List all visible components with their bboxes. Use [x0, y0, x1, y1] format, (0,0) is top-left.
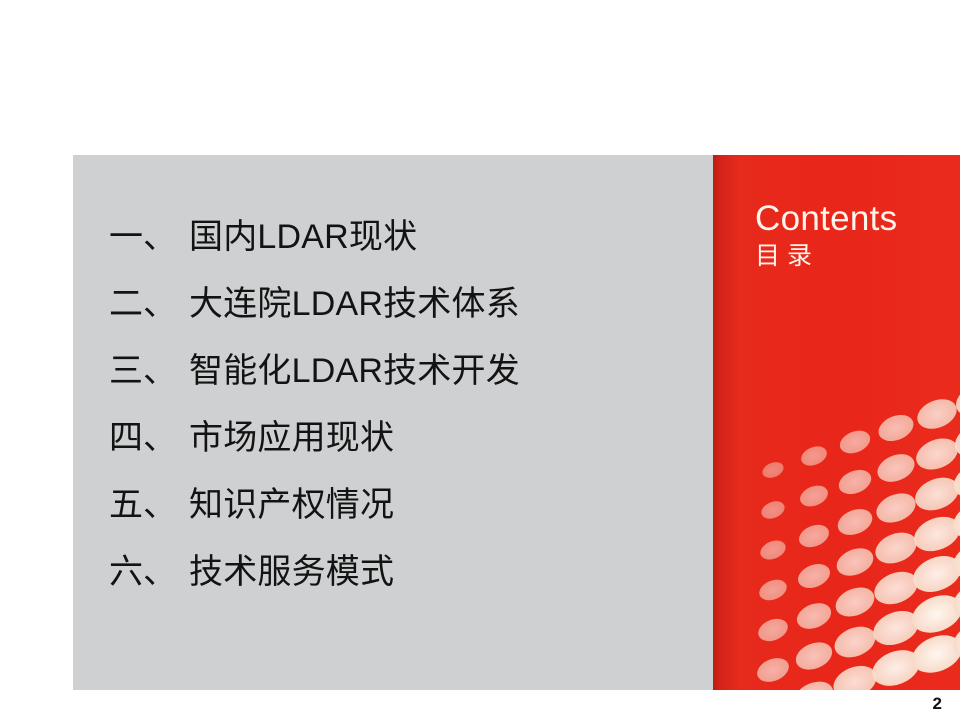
- agenda-item-1[interactable]: 一、 国内LDAR现状: [109, 204, 709, 271]
- contents-heading: Contents 目 录: [755, 199, 955, 271]
- contents-panel: Contents 目 录: [713, 155, 960, 690]
- agenda-item-1-label: 国内LDAR现状: [189, 204, 417, 271]
- agenda-item-2[interactable]: 二、 大连院LDAR技术体系: [109, 271, 709, 338]
- agenda-item-6[interactable]: 六、 技术服务模式: [109, 539, 709, 606]
- slide-canvas: 一、 国内LDAR现状 二、 大连院LDAR技术体系 三、 智能化LDAR技术开…: [0, 0, 960, 720]
- agenda-item-3[interactable]: 三、 智能化LDAR技术开发: [109, 338, 709, 405]
- agenda-panel: 一、 国内LDAR现状 二、 大连院LDAR技术体系 三、 智能化LDAR技术开…: [73, 155, 714, 690]
- agenda-item-5-number: 五、: [109, 472, 189, 539]
- page-number: 2: [933, 694, 942, 714]
- agenda-list: 一、 国内LDAR现状 二、 大连院LDAR技术体系 三、 智能化LDAR技术开…: [109, 204, 709, 606]
- agenda-item-4-label: 市场应用现状: [189, 405, 394, 472]
- agenda-item-2-label: 大连院LDAR技术体系: [189, 271, 520, 338]
- agenda-item-6-number: 六、: [109, 539, 189, 606]
- contents-title-en: Contents: [755, 199, 955, 239]
- agenda-item-5[interactable]: 五、 知识产权情况: [109, 472, 709, 539]
- agenda-item-5-label: 知识产权情况: [189, 472, 394, 539]
- agenda-item-6-label: 技术服务模式: [189, 539, 394, 606]
- agenda-item-4[interactable]: 四、 市场应用现状: [109, 405, 709, 472]
- agenda-item-1-number: 一、: [109, 204, 189, 271]
- agenda-item-3-number: 三、: [109, 338, 189, 405]
- agenda-item-2-number: 二、: [109, 271, 189, 338]
- contents-title-zh: 目 录: [755, 241, 955, 271]
- agenda-item-4-number: 四、: [109, 405, 189, 472]
- agenda-item-3-label: 智能化LDAR技术开发: [189, 338, 520, 405]
